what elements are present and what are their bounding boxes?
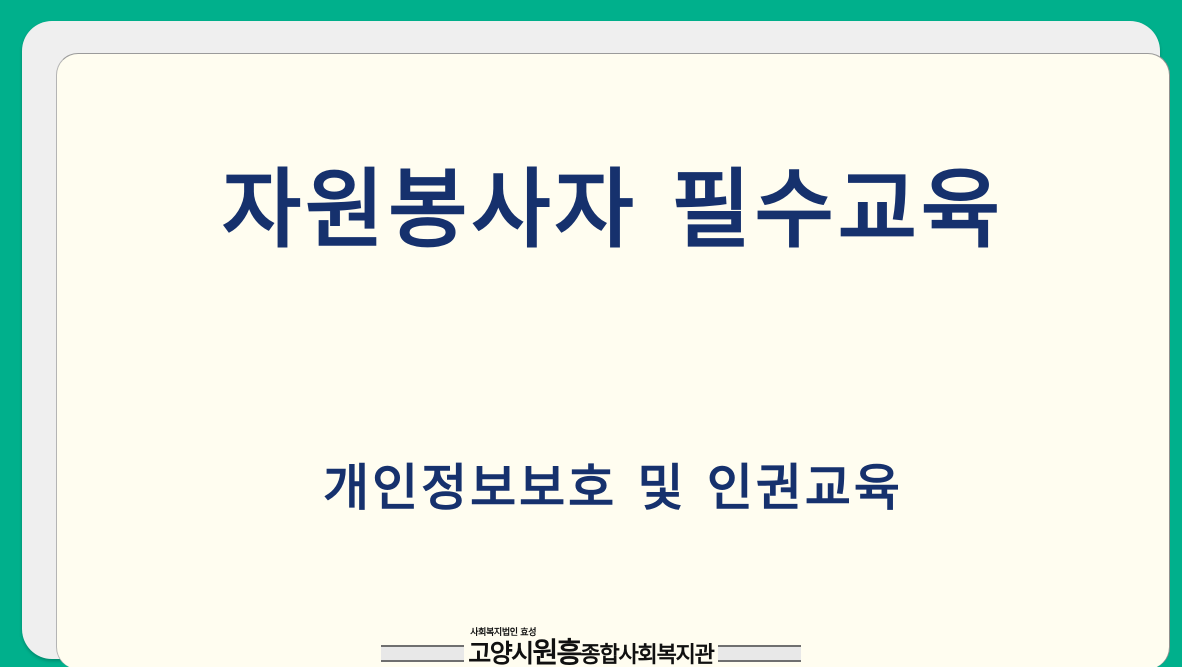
- organization-logo: 사회복지법인 효성 고양시원흥종합사회복지관: [381, 619, 801, 667]
- slide-content-panel: 자원봉사자 필수교육 개인정보보호 및 인권교육: [56, 53, 1170, 667]
- logo-name-lead: 고양시: [468, 639, 532, 667]
- logo-name-tail: 종합사회복지관: [580, 643, 713, 667]
- logo-name-accent: 원흥: [533, 636, 581, 667]
- logo-eyebrow-text: 사회복지법인 효성: [468, 629, 713, 638]
- slide-subtitle: 개인정보보호 및 인권교육: [57, 460, 1169, 518]
- logo-rule-right: [718, 645, 801, 662]
- slide-frame-border: 자원봉사자 필수교육 개인정보보호 및 인권교육: [22, 21, 1160, 659]
- presentation-slide: 자원봉사자 필수교육 개인정보보호 및 인권교육 사회복지법인 효성 고양시원흥…: [0, 0, 1182, 667]
- logo-rule-left: [381, 645, 464, 662]
- slide-title: 자원봉사자 필수교육: [57, 162, 1169, 258]
- slide-text-stack: 자원봉사자 필수교육 개인정보보호 및 인권교육: [57, 54, 1169, 667]
- logo-name: 고양시원흥종합사회복지관: [468, 639, 713, 667]
- logo-wordmark: 사회복지법인 효성 고양시원흥종합사회복지관: [464, 629, 717, 667]
